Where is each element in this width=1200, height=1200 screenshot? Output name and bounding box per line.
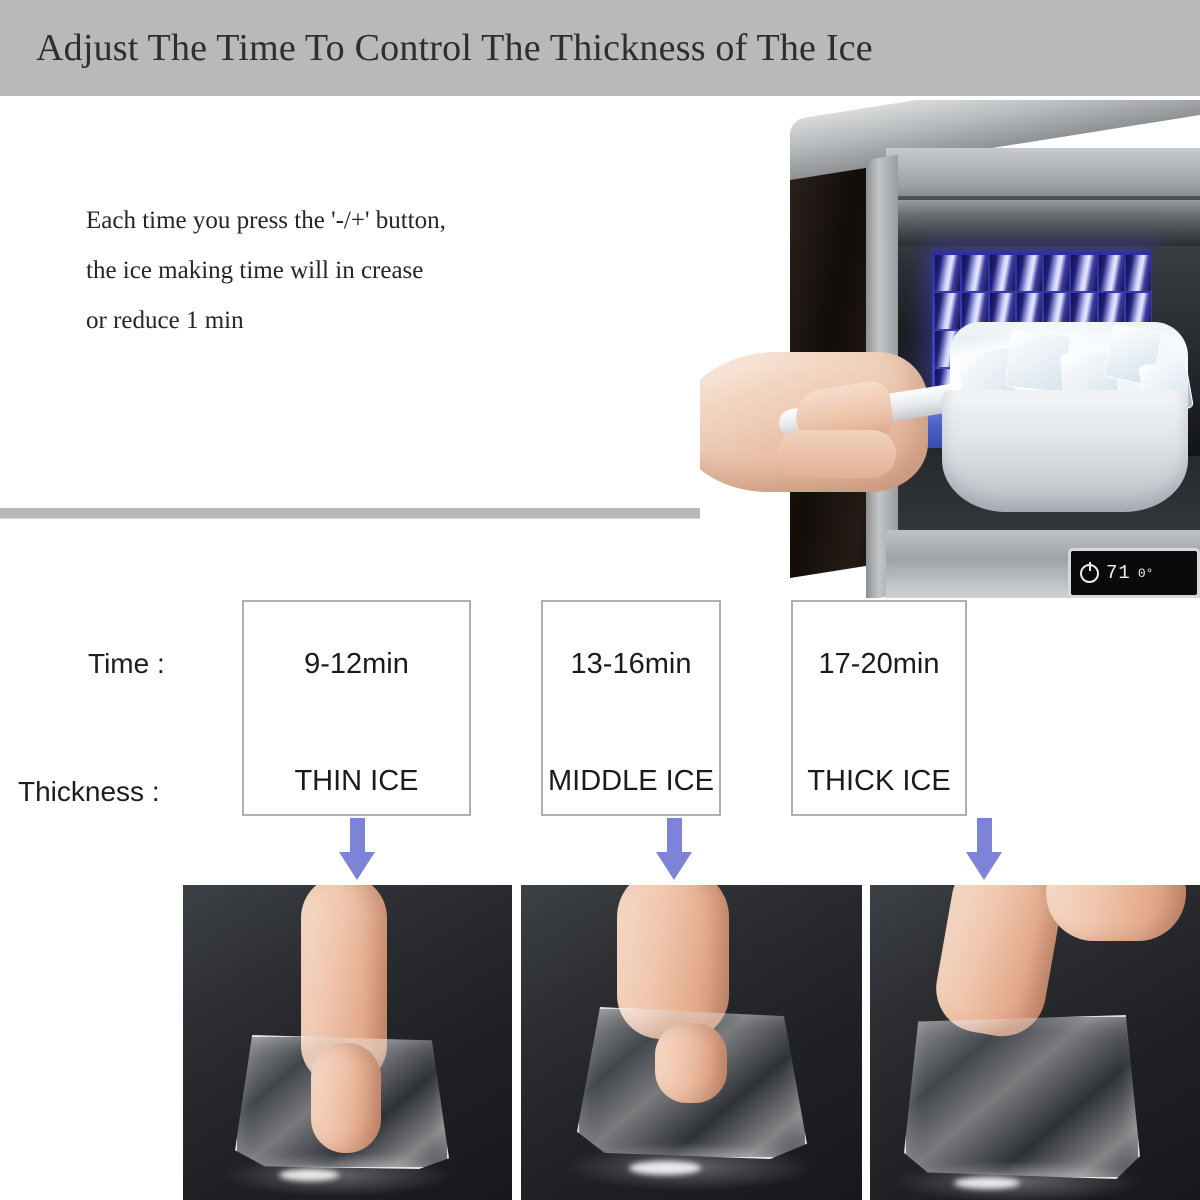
surface-reflection bbox=[565, 1143, 815, 1191]
down-arrow-icon bbox=[339, 818, 375, 878]
arrow-shaft bbox=[667, 818, 682, 856]
finger-through-ice bbox=[311, 1043, 381, 1153]
option-time-value: 13-16min bbox=[517, 648, 745, 681]
finger-into-ice bbox=[655, 1023, 727, 1103]
arrow-head bbox=[966, 852, 1002, 880]
ice-mold-cell bbox=[1099, 255, 1124, 291]
down-arrow-icon bbox=[966, 818, 1002, 878]
down-arrow-icon bbox=[656, 818, 692, 878]
page-title: Adjust The Time To Control The Thickness… bbox=[36, 26, 873, 70]
option-time-value: 17-20min bbox=[767, 648, 991, 681]
arrow-head bbox=[339, 852, 375, 880]
arrow-head bbox=[656, 852, 692, 880]
option-box-thin[interactable]: 9-12min THIN ICE bbox=[242, 600, 471, 816]
cube-photo-thin bbox=[183, 885, 512, 1200]
control-display-panel[interactable]: 71 0° bbox=[1068, 548, 1200, 598]
ice-mold-cell bbox=[990, 255, 1015, 291]
knuckles bbox=[1046, 885, 1186, 941]
ice-scoop bbox=[942, 390, 1188, 512]
ice-cube bbox=[904, 1015, 1140, 1179]
ice-machine-photo: 71 0° bbox=[700, 100, 1200, 598]
option-time-value: 9-12min bbox=[244, 648, 469, 681]
machine-cavity-lip bbox=[886, 200, 1200, 246]
machine-top-front-edge bbox=[886, 148, 1200, 202]
surface-reflection bbox=[223, 1153, 453, 1197]
arrow-shaft bbox=[350, 818, 365, 856]
instruction-line-1: Each time you press the '-/+' button, bbox=[86, 196, 446, 246]
option-box-middle[interactable]: 13-16min MIDDLE ICE bbox=[541, 600, 721, 816]
section-divider bbox=[0, 508, 706, 519]
option-thickness-value: MIDDLE ICE bbox=[517, 765, 745, 798]
ice-mold-cell bbox=[962, 255, 987, 291]
power-icon bbox=[1080, 564, 1099, 583]
display-degree: 0° bbox=[1138, 566, 1154, 581]
ice-mold-cell bbox=[1044, 255, 1069, 291]
row-label-thickness: Thickness : bbox=[18, 776, 160, 808]
cube-photo-thick bbox=[870, 885, 1200, 1200]
arrow-shaft bbox=[977, 818, 992, 856]
option-thickness-value: THICK ICE bbox=[767, 765, 991, 798]
surface-reflection bbox=[894, 1161, 1144, 1200]
header-band: Adjust The Time To Control The Thickness… bbox=[0, 0, 1200, 96]
ice-mold-cell bbox=[1017, 255, 1042, 291]
instruction-line-3: or reduce 1 min bbox=[86, 296, 446, 346]
fingers bbox=[778, 430, 896, 478]
display-digits: 71 bbox=[1106, 562, 1131, 584]
ice-mold-cell bbox=[1071, 255, 1096, 291]
ice-mold-cell bbox=[1126, 255, 1151, 291]
cube-photo-middle bbox=[521, 885, 862, 1200]
ice-mold-cell bbox=[935, 255, 960, 291]
option-box-thick[interactable]: 17-20min THICK ICE bbox=[791, 600, 967, 816]
row-label-time: Time : bbox=[88, 648, 165, 680]
ice-mold-cell bbox=[935, 293, 960, 329]
instruction-line-2: the ice making time will in crease bbox=[86, 246, 446, 296]
instruction-text: Each time you press the '-/+' button, th… bbox=[86, 196, 446, 346]
option-thickness-value: THIN ICE bbox=[244, 765, 469, 798]
